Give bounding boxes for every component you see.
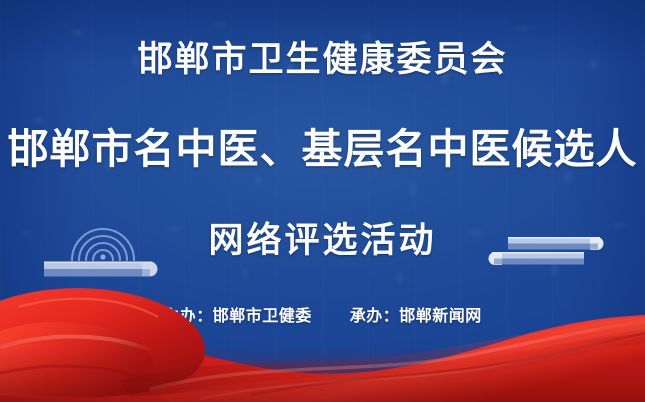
page-title-line-3: 网络评选活动 [0,219,645,263]
red-silk-ribbon [0,277,645,402]
page-title-line-2: 邯郸市名中医、基层名中医候选人 [0,124,645,174]
page-title-line-1: 邯郸市卫生健康委员会 [0,38,645,82]
poster-banner: 邯郸市卫生健康委员会 邯郸市名中医、基层名中医候选人 网络评选活动 主办：邯郸市… [0,0,645,402]
